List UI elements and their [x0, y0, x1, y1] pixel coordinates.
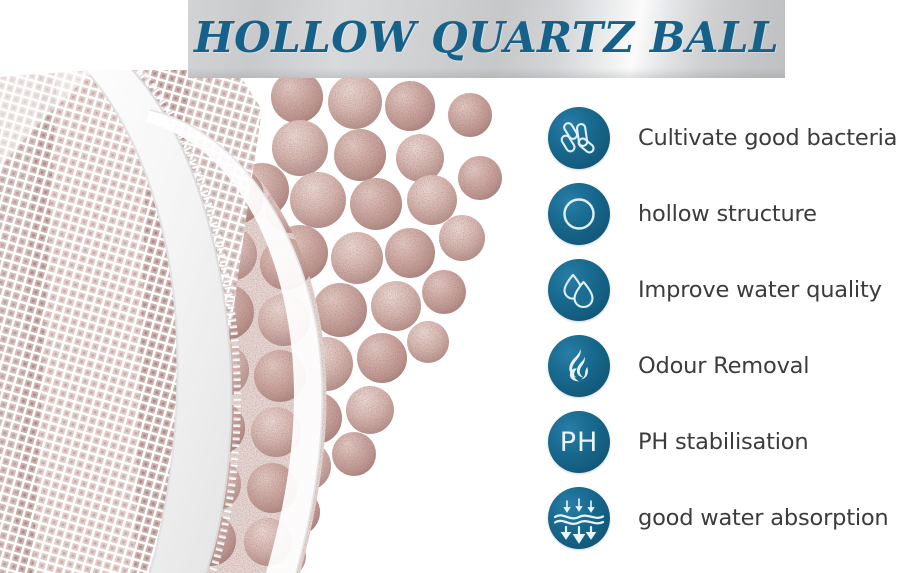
feature-item-cultivate-good-bacteria: Cultivate good bacteria	[548, 100, 922, 176]
flame-icon	[548, 335, 610, 397]
product-infographic: HOLLOW QUARTZ BALL Cultivate good bacter…	[0, 0, 922, 573]
feature-label: hollow structure	[638, 201, 817, 227]
feature-label: good water absorption	[638, 505, 889, 531]
feature-item-hollow-structure: hollow structure	[548, 176, 922, 252]
feature-label: PH stabilisation	[638, 429, 808, 455]
feature-list: Cultivate good bacteria hollow structure	[548, 100, 922, 556]
title-banner: HOLLOW QUARTZ BALL	[188, 0, 785, 78]
feature-label: Odour Removal	[638, 353, 809, 379]
water-droplets-icon	[548, 259, 610, 321]
ph-icon: PH	[548, 411, 610, 473]
feature-item-odour-removal: Odour Removal	[548, 328, 922, 404]
ph-icon-text: PH	[560, 429, 599, 456]
feature-label: Cultivate good bacteria	[638, 125, 897, 151]
bacteria-icon	[548, 107, 610, 169]
product-photo	[0, 70, 540, 573]
water-absorption-icon	[548, 487, 610, 549]
feature-label: Improve water quality	[638, 277, 882, 303]
hollow-circle-icon	[548, 183, 610, 245]
feature-item-improve-water-quality: Improve water quality	[548, 252, 922, 328]
feature-item-good-water-absorption: good water absorption	[548, 480, 922, 556]
feature-item-ph-stabilisation: PH PH stabilisation	[548, 404, 922, 480]
page-title: HOLLOW QUARTZ BALL	[194, 17, 779, 59]
